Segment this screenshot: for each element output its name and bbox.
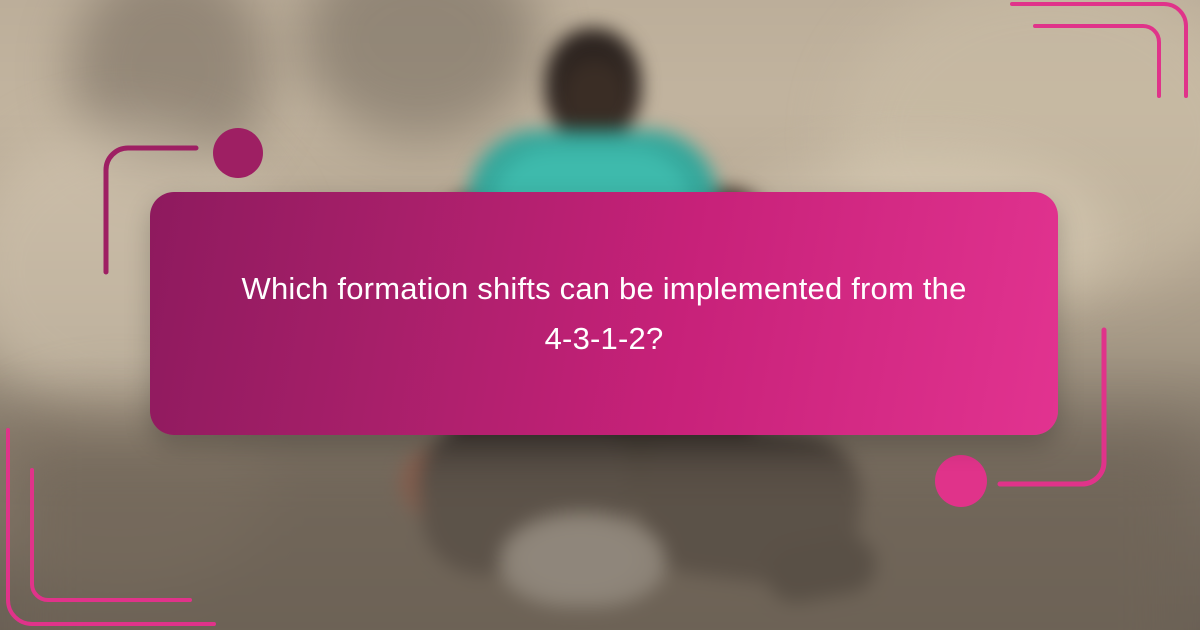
question-card: Which formation shifts can be implemente… (150, 192, 1058, 435)
photo-blob-ground-shadow (0, 430, 1200, 630)
question-text: Which formation shifts can be implemente… (204, 264, 1004, 363)
poster-canvas: Which formation shifts can be implemente… (0, 0, 1200, 630)
